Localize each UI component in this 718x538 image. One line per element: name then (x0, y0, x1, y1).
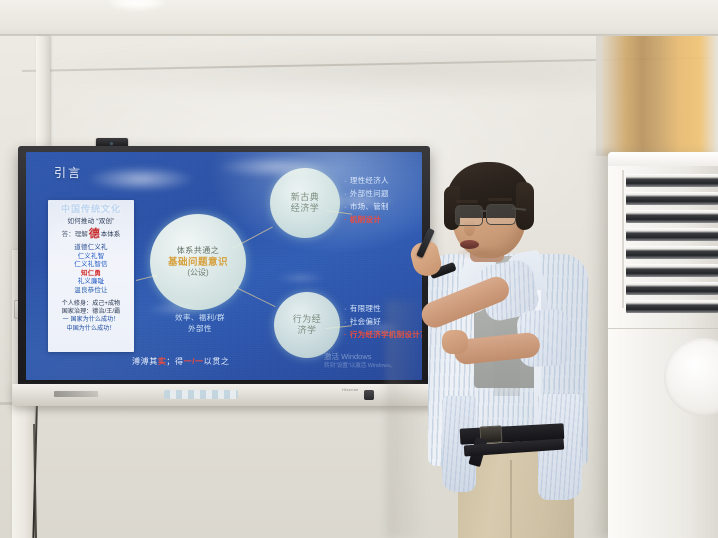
card-footer: 个人修身：成己+成物 国家治理：德治/王/霸 一 国家为什么成功！ 中国为什么成… (50, 300, 132, 334)
presenter-hair-side-right (516, 182, 534, 230)
center-circle-subtext: 效率、福利/群 外部性 (148, 312, 252, 334)
card-answer-prefix: 答：理解 (62, 231, 88, 238)
watermark-line1: 激活 Windows (324, 352, 396, 362)
air-conditioner-vents (626, 174, 718, 302)
presenter-nose (464, 220, 475, 236)
air-conditioner-seam (608, 328, 718, 329)
card-footer-line: 中国为什么成功！ (50, 325, 132, 333)
slide-bottom-motto: 溥溥其实；得一/一以贯之 (132, 356, 229, 367)
doorway-edge (596, 36, 602, 156)
motto-part: 以贯之 (204, 357, 230, 366)
wall-conduit-upper (36, 36, 50, 146)
windows-activation-watermark: 激活 Windows 转到“设置”以激活 Windows。 (324, 352, 396, 370)
eyebrow-left (456, 200, 478, 203)
center-subtext-line: 外部性 (148, 323, 252, 334)
eyebrow-right (488, 198, 512, 201)
card-footer-line: 一 国家为什么成功！ (50, 316, 132, 324)
virtue-line: 温良恭俭让 (50, 287, 132, 296)
top-circle-line2: 经济学 (291, 203, 320, 214)
top-bullet-list: 理性经济人 外部性问题 市场、管制 机制设计 (344, 174, 389, 226)
presentation-slide: 引言 中国传统文化 如何推动 “双创” 答：理解德本体系 道德仁义礼 仁义礼智 … (26, 152, 422, 380)
watermark-line2: 转到“设置”以激活 Windows。 (324, 362, 396, 370)
panel-chin-bar: Hisense (12, 384, 436, 406)
bullet-item: 理性经济人 (344, 174, 389, 187)
virtue-line: 仁义礼智 (50, 253, 132, 262)
virtue-line: 仁义礼智信 (50, 261, 132, 270)
presenter (398, 150, 618, 538)
center-circle-line2: 基础问题意识 (168, 257, 228, 269)
behavioral-economics-circle: 行为经 济学 (274, 292, 340, 358)
card-answer-key: 德 (88, 228, 101, 240)
center-circle-line1: 体系共通之 (177, 246, 220, 256)
center-concept-circle: 体系共通之 基础问题意识 (公设) (150, 214, 246, 310)
glasses-bridge (480, 210, 487, 212)
card-answer: 答：理解德本体系 (50, 228, 132, 241)
slide-title: 引言 (54, 164, 82, 181)
virtue-line: 礼义廉耻 (50, 278, 132, 287)
bottom-circle-line1: 行为经 (293, 314, 322, 325)
virtue-list: 道德仁义礼 仁义礼智 仁义礼智信 知仁勇 礼义廉耻 温良恭俭让 (50, 244, 132, 296)
card-footer-line: 个人修身：成己+成物 (50, 300, 132, 308)
air-conditioner-outlet-ring (664, 338, 718, 416)
motto-part: ；得 (166, 357, 183, 366)
doorway-strip (596, 36, 718, 156)
card-question: 如何推动 “双创” (50, 217, 132, 227)
bullet-item: 市场、管制 (344, 200, 389, 213)
air-conditioner[interactable] (608, 152, 718, 538)
classroom-photo-scene: 引言 中国传统文化 如何推动 “双创” 答：理解德本体系 道德仁义礼 仁义礼智 … (0, 0, 718, 538)
motto-part: 溥溥其 (132, 357, 158, 366)
panel-control-keys[interactable] (164, 390, 238, 399)
presenter-chin-shade (456, 246, 506, 260)
virtue-line: 道德仁义礼 (50, 244, 132, 253)
air-conditioner-top (608, 152, 718, 166)
neoclassical-economics-circle: 新古典 经济学 (270, 168, 340, 238)
bullet-item: 机制设计 (344, 213, 389, 226)
top-circle-line1: 新古典 (291, 192, 320, 203)
presenter-lower-hand (442, 330, 468, 354)
slide-text-card: 中国传统文化 如何推动 “双创” 答：理解德本体系 道德仁义礼 仁义礼智 仁义礼… (48, 200, 134, 352)
card-answer-suffix: 本体系 (101, 231, 121, 238)
brand-logo-icon (54, 391, 98, 397)
panel-brand-text: Hisense (342, 387, 359, 392)
card-heading: 中国传统文化 (50, 203, 132, 215)
wall-shadow (40, 40, 640, 100)
interactive-flat-panel[interactable]: 引言 中国传统文化 如何推动 “双创” 答：理解德本体系 道德仁义礼 仁义礼智 … (18, 146, 430, 408)
center-circle-line3: (公设) (187, 268, 208, 278)
power-button[interactable] (364, 390, 374, 400)
bullet-item: 外部性问题 (344, 187, 389, 200)
bottom-circle-line2: 济学 (297, 325, 316, 336)
trouser-seam (510, 460, 512, 538)
motto-part-red: 一/一 (184, 357, 204, 366)
panel-bezel: 引言 中国传统文化 如何推动 “双创” 答：理解德本体系 道德仁义礼 仁义礼智 … (18, 146, 430, 392)
panel-screen[interactable]: 引言 中国传统文化 如何推动 “双创” 答：理解德本体系 道德仁义礼 仁义礼智 … (26, 152, 422, 380)
card-footer-line: 国家治理：德治/王/霸 (50, 308, 132, 316)
center-subtext-line: 效率、福利/群 (148, 312, 252, 323)
